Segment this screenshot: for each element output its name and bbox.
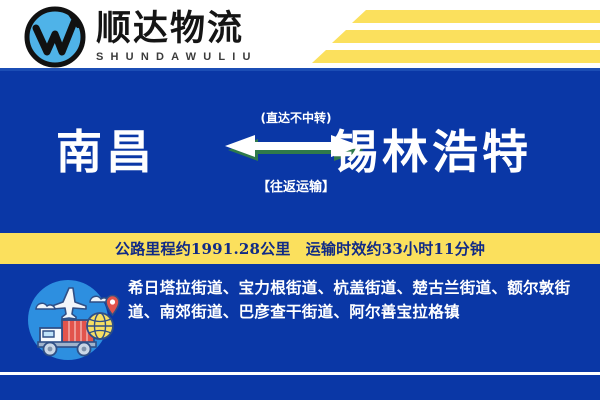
route-section: 南昌 (直达不中转) 【往返运输】 锡林浩特 (0, 71, 600, 233)
origin-city: 南昌 (56, 129, 156, 175)
trip-info-bar: 公路里程约1991.28公里 运输时效约33小时11分钟 (0, 233, 600, 264)
destination-city: 锡林浩特 (332, 129, 532, 175)
header-stripes (320, 0, 600, 68)
direct-route-note: (直达不中转) (225, 109, 367, 126)
trip-info-text: 公路里程约1991.28公里 运输时效约33小时11分钟 (115, 238, 485, 259)
coverage-section: 希日塔拉街道、宝力根街道、杭盖街道、楚古兰街道、额尔敦街道、南郊街道、巴彦查干街… (0, 264, 600, 372)
stripe-3 (312, 50, 600, 63)
banner-header: 顺达物流 SHUNDAWULIU (0, 0, 600, 68)
logistics-truck-globe-plane-icon (12, 276, 124, 364)
footer-strip (0, 375, 600, 400)
stripe-1 (352, 10, 600, 23)
logistics-route-banner: 顺达物流 SHUNDAWULIU 南昌 (直达不中转) 【往返运输】 (0, 0, 600, 400)
brand-name-cn: 顺达物流 (96, 11, 258, 48)
brand-name-en: SHUNDAWULIU (96, 51, 258, 63)
coverage-area-list: 希日塔拉街道、宝力根街道、杭盖街道、楚古兰街道、额尔敦街道、南郊街道、巴彦查干街… (128, 276, 574, 324)
brand-logo: 顺达物流 SHUNDAWULIU (24, 6, 258, 68)
stripe-2 (332, 30, 600, 43)
brand-text: 顺达物流 SHUNDAWULIU (96, 11, 258, 64)
circular-swoosh-logo-icon (24, 6, 86, 68)
